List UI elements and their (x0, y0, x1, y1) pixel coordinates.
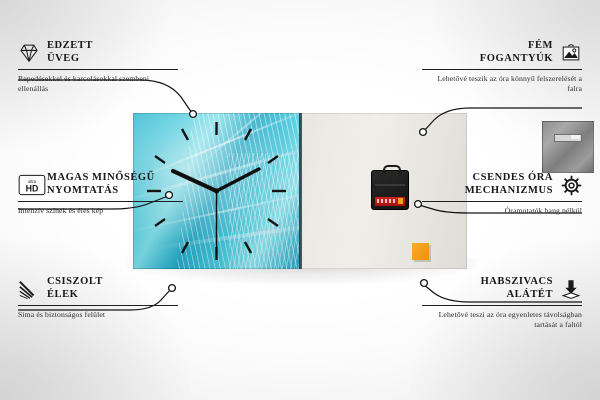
infographic-canvas: EDZETTÜVEG Repedésekkel és karcolásokkal… (0, 0, 600, 400)
callout-divider (18, 69, 178, 70)
foam-pad-arrow-icon (560, 278, 582, 300)
gear-icon (560, 174, 582, 196)
callout-divider (422, 305, 582, 306)
mechanism-ridge (375, 184, 405, 186)
foam-pad (412, 243, 429, 260)
wall-hanger-icon (560, 42, 582, 64)
callout-title-row: FÉMFOGANTYÚK (422, 40, 582, 65)
diamond-icon (18, 42, 40, 64)
battery-label (377, 199, 397, 203)
polished-edges-icon (18, 278, 40, 300)
callout-description: Intenzív színek és éles kép (18, 206, 183, 216)
panel-seam (299, 113, 302, 269)
ultra-hd-icon: ultra HD (18, 174, 40, 196)
callout-magas-minosegu-nyomtatas[interactable]: ultra HD MAGAS MINŐSÉGŰNYOMTATÁS Intenzí… (18, 172, 183, 216)
battery-plus-terminal (398, 198, 403, 204)
mechanism-shaft (383, 165, 401, 175)
callout-divider (422, 69, 582, 70)
callout-title-row: HABSZIVACSALÁTÉT (422, 276, 582, 301)
callout-habszivacs-alatet[interactable]: HABSZIVACSALÁTÉT Lehetővé teszi az óra e… (422, 276, 582, 330)
callout-title-row: EDZETTÜVEG (18, 40, 178, 65)
callout-title: CSISZOLTÉLEK (47, 276, 103, 301)
callout-title-row: ultra HD MAGAS MINŐSÉGŰNYOMTATÁS (18, 172, 183, 197)
callout-title-row: CSISZOLTÉLEK (18, 276, 178, 301)
callout-title: MAGAS MINŐSÉGŰNYOMTATÁS (47, 172, 155, 197)
callout-fem-fogantyuk[interactable]: FÉMFOGANTYÚK Lehetővé teszik az óra könn… (422, 40, 582, 94)
hanger-plate (542, 121, 594, 173)
hanger-slot (554, 134, 582, 142)
callout-title: FÉMFOGANTYÚK (480, 40, 553, 65)
callout-divider (18, 201, 183, 202)
callout-description: Sima és biztonságos felület (18, 310, 178, 320)
clock-mechanism (371, 170, 409, 210)
callout-description: Repedésekkel és karcolásokkal szembeni e… (18, 74, 178, 94)
callout-title-row: CSENDES ÓRAMECHANIZMUS (422, 172, 582, 197)
callout-description: Lehetővé teszik az óra könnyű felszerelé… (422, 74, 582, 94)
callout-divider (422, 201, 582, 202)
callout-description: Óramutatók hang nélkül (422, 206, 582, 216)
callout-description: Lehetővé teszi az óra egyenletes távolsá… (422, 310, 582, 330)
callout-csiszolt-elek[interactable]: CSISZOLTÉLEK Sima és biztonságos felület (18, 276, 178, 320)
callout-title: EDZETTÜVEG (47, 40, 93, 65)
callout-title: CSENDES ÓRAMECHANIZMUS (465, 172, 553, 197)
ultra-hd-icon-main-text: HD (26, 183, 39, 193)
callout-title: HABSZIVACSALÁTÉT (481, 276, 553, 301)
callout-edzett-uveg[interactable]: EDZETTÜVEG Repedésekkel és karcolásokkal… (18, 40, 178, 94)
callout-divider (18, 305, 178, 306)
battery (375, 197, 405, 206)
callout-csendes-ora-mechanizmus[interactable]: CSENDES ÓRAMECHANIZMUS Óramutatók hang n… (422, 172, 582, 216)
product-image (133, 113, 467, 269)
